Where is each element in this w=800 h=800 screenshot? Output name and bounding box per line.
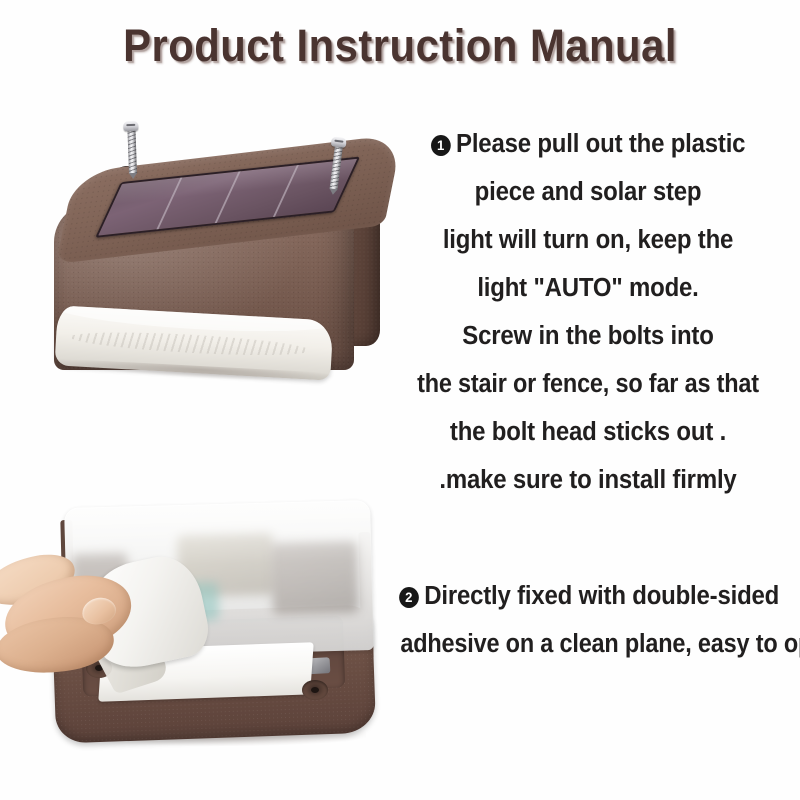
step-1-line-1-text: Please pull out the plastic — [456, 130, 745, 158]
hand-peeling-backing — [0, 564, 136, 672]
mounting-screw-left — [123, 114, 140, 176]
product-drop-shadow — [66, 730, 366, 746]
screw-boss-right — [302, 680, 328, 700]
product-photo-solar-step-light — [48, 112, 388, 412]
step-2-line-2: adhesive on a clean plane, easy to opera… — [400, 620, 777, 668]
instruction-manual-page: Product Instruction Manual — [0, 0, 800, 800]
step-1-line-1: 1Please pull out the plastic — [408, 120, 769, 168]
step-1-line-3: light will turn on, keep the — [408, 216, 769, 264]
screw-threads — [330, 144, 343, 190]
page-title: Product Instruction Manual — [28, 20, 772, 72]
step-1-line-8: .make sure to install firmly — [408, 456, 769, 504]
step-2-line-1: 2Directly fixed with double-sided — [396, 572, 781, 620]
step-1-line-5: Screw in the bolts into — [408, 312, 769, 360]
step-1-line-6: the stair or fence, so far as that — [411, 360, 764, 408]
step-1-line-7: the bolt head sticks out . — [408, 408, 769, 456]
step-2-line-1-text: Directly fixed with double-sided — [424, 582, 779, 610]
step-1-line-2: piece and solar step — [408, 168, 769, 216]
instruction-step-1: 1Please pull out the plastic piece and s… — [396, 120, 780, 504]
screw-tip — [129, 173, 137, 179]
screw-head — [331, 136, 347, 148]
step-2-marker: 2 — [399, 587, 419, 608]
step-1-marker: 1 — [431, 135, 451, 156]
screw-threads — [127, 128, 137, 173]
step-1-line-4: light "AUTO" mode. — [408, 264, 769, 312]
screw-slot — [126, 124, 135, 126]
screw-head — [123, 121, 138, 132]
instruction-step-2: 2Directly fixed with double-sided adhesi… — [384, 572, 794, 668]
product-photo-adhesive-peel — [30, 498, 400, 758]
screw-tip — [329, 188, 338, 195]
